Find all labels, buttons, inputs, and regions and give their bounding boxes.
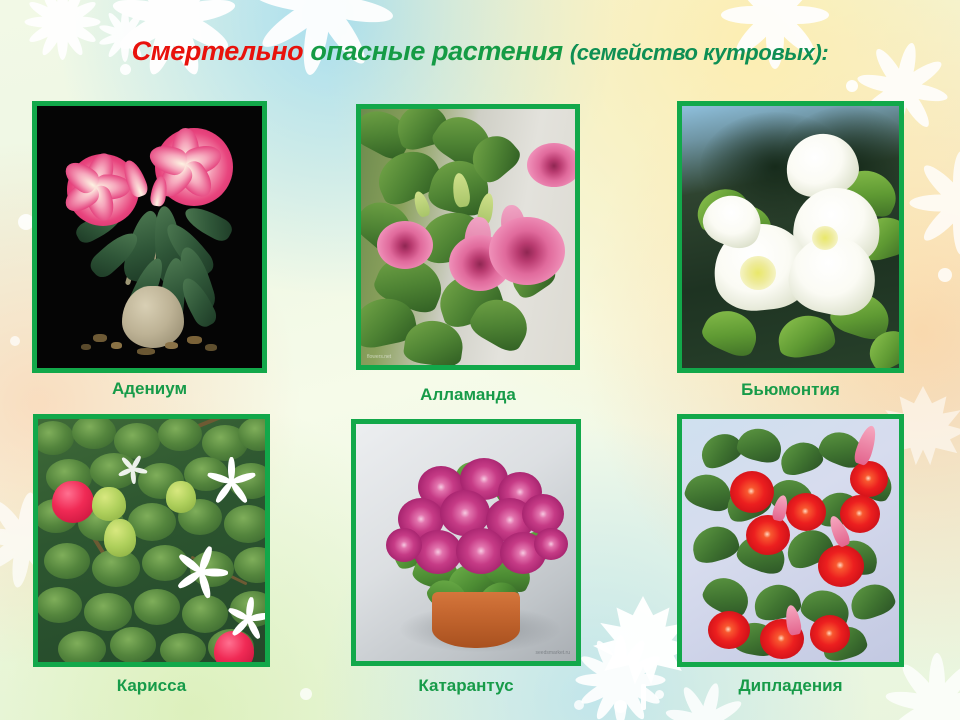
- carissa-flower: [116, 453, 148, 485]
- catharanthus-bloom: [386, 528, 422, 562]
- carissa-flower: [224, 595, 265, 643]
- dipladenia-bloom: [810, 615, 850, 653]
- soil-gravel: [187, 336, 202, 344]
- plant-leaf: [846, 578, 898, 623]
- flower-throat: [812, 226, 838, 250]
- dipladenia-bloom: [730, 471, 774, 513]
- soil-gravel: [81, 344, 91, 350]
- catharanthus-bloom: [522, 494, 564, 534]
- dipladenia-bloom: [840, 495, 880, 533]
- dipladenia-bloom: [786, 493, 826, 531]
- adenium-caudex: [122, 286, 184, 348]
- carissa-berry-green: [104, 519, 136, 557]
- allamanda-bloom: [489, 217, 565, 285]
- photo-frame-allamanda[interactable]: flowers.net: [356, 104, 580, 370]
- photo-adenium: [37, 106, 262, 368]
- slide-title: Смертельно опасные растения (семейство к…: [0, 36, 960, 67]
- carissa-flower: [204, 455, 258, 509]
- soil-gravel: [93, 334, 107, 342]
- plant-leaf: [160, 633, 206, 662]
- plant-leaf: [44, 543, 90, 579]
- photo-dipladenia: [682, 419, 899, 662]
- catharanthus-bloom: [456, 528, 506, 574]
- plant-leaf: [38, 421, 74, 455]
- caption-beaumontia: Бьюмонтия: [677, 380, 904, 400]
- title-main: опасные растения: [310, 36, 562, 66]
- soil-gravel: [137, 348, 155, 355]
- plant-leaf: [72, 419, 116, 449]
- dipladenia-bloom: [746, 515, 790, 555]
- decorative-dot: [300, 688, 312, 700]
- photo-allamanda: flowers.net: [361, 109, 575, 365]
- caption-dipladenia: Дипладения: [677, 676, 904, 696]
- photo-watermark: seedsmarket.ru: [536, 650, 570, 656]
- flower-pot: [432, 592, 520, 648]
- catharanthus-bloom: [534, 528, 568, 560]
- decorative-dot: [10, 336, 20, 346]
- carissa-berry-red: [52, 481, 94, 523]
- catharanthus-bloom: [414, 530, 462, 574]
- caption-allamanda: Алламанда: [356, 385, 580, 405]
- soil-gravel: [205, 344, 217, 351]
- maple-leaf-stem-icon: [641, 684, 646, 710]
- plant-leaf: [688, 521, 742, 566]
- plant-leaf: [38, 587, 82, 623]
- decorative-dot: [846, 80, 858, 92]
- carissa-berry-green: [92, 487, 126, 521]
- carissa-flower: [172, 543, 230, 601]
- decorative-dot: [655, 690, 664, 699]
- plant-leaf: [110, 627, 156, 662]
- plant-leaf: [735, 424, 785, 466]
- decorative-dot: [614, 700, 627, 713]
- photo-frame-beaumontia[interactable]: [677, 101, 904, 373]
- photo-carissa: [38, 419, 265, 662]
- plant-leaf: [698, 303, 764, 362]
- carissa-berry-green: [166, 481, 196, 513]
- plant-leaf: [776, 437, 825, 479]
- photo-frame-adenium[interactable]: [32, 101, 267, 373]
- allamanda-bloom: [377, 221, 433, 269]
- photo-catharanthus: seedsmarket.ru: [356, 424, 576, 661]
- flower-throat: [740, 256, 776, 290]
- photo-frame-dipladenia[interactable]: [677, 414, 904, 667]
- photo-frame-catharanthus[interactable]: seedsmarket.ru: [351, 419, 581, 666]
- plant-leaf: [224, 505, 265, 543]
- photo-beaumontia: [682, 106, 899, 368]
- title-paren: (семейство кутровых):: [570, 40, 829, 65]
- decorative-dot: [574, 700, 584, 710]
- photo-watermark: flowers.net: [367, 354, 391, 360]
- photo-frame-carissa[interactable]: [33, 414, 270, 667]
- plant-leaf: [158, 419, 202, 451]
- flower-bud: [852, 424, 880, 467]
- plant-leaf: [775, 311, 837, 360]
- title-emphasis: Смертельно: [132, 36, 304, 66]
- caption-adenium: Адениум: [32, 379, 267, 399]
- soil-gravel: [111, 342, 122, 349]
- dipladenia-bloom: [708, 611, 750, 649]
- dipladenia-bloom: [850, 461, 888, 497]
- plant-leaf: [84, 593, 132, 631]
- plant-leaf: [58, 631, 106, 662]
- slide-canvas: Смертельно опасные растения (семейство к…: [0, 0, 960, 720]
- caption-catharanthus: Катарантус: [351, 676, 581, 696]
- dipladenia-bloom: [818, 545, 864, 587]
- caption-carissa: Карисса: [33, 676, 270, 696]
- soil-gravel: [165, 342, 178, 349]
- decorative-dot: [938, 268, 952, 282]
- allamanda-bloom: [527, 143, 575, 187]
